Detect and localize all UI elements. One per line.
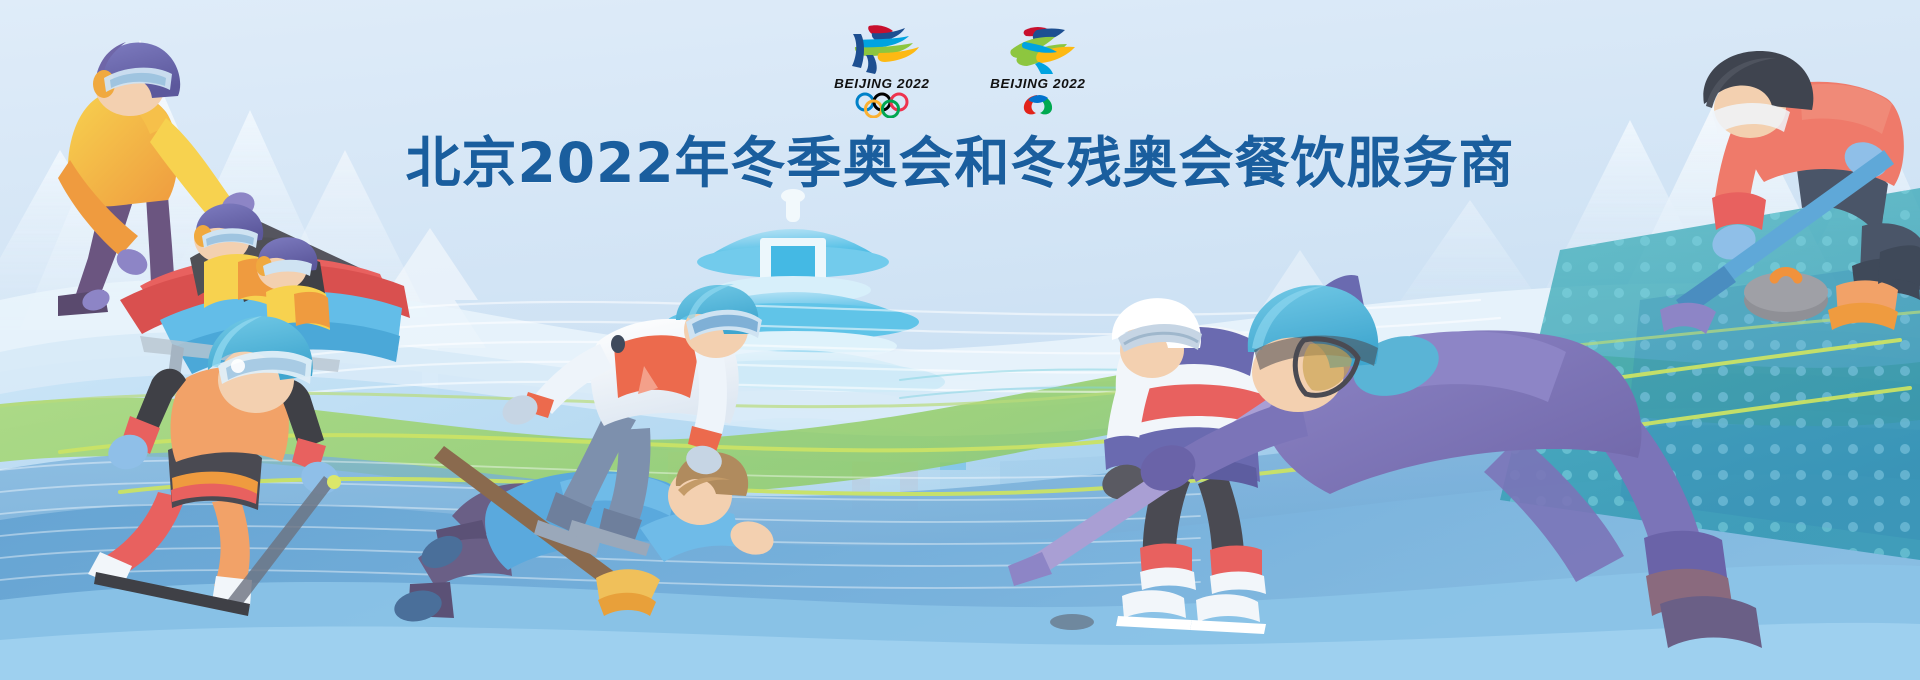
athlete-alpine-skier-orange (88, 316, 343, 616)
beijing-2022-catering-banner: BEIJING 2022 BEIJIN (0, 0, 1920, 680)
banner-title: 北京2022年冬季奥会和冬残奥会餐饮服务商 (0, 118, 1920, 198)
athlete-figures (0, 0, 1920, 680)
